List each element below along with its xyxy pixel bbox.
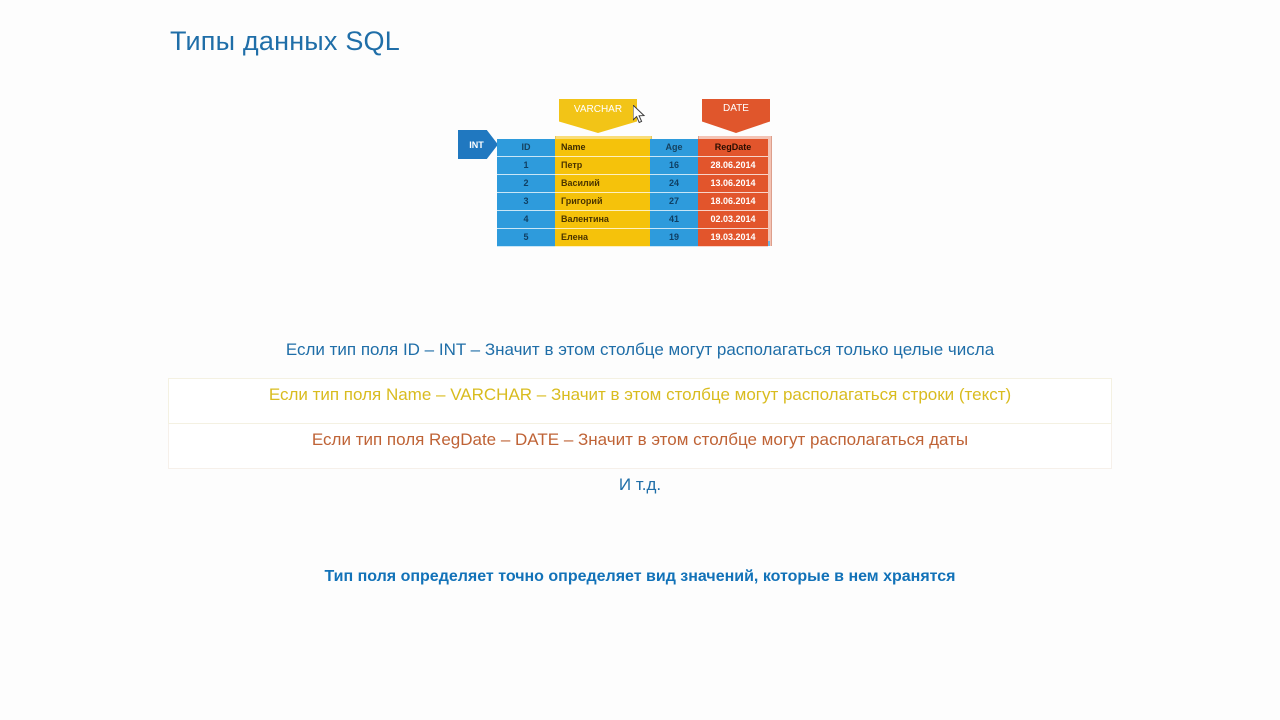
cell-name: Елена — [555, 229, 650, 247]
cell-regdate: 02.03.2014 — [698, 211, 768, 229]
explanation-varchar: Если тип поля Name – VARCHAR – Значит в … — [168, 378, 1112, 424]
cell-name: Василий — [555, 175, 650, 193]
cell-name: Петр — [555, 157, 650, 175]
cell-age: 19 — [650, 229, 698, 247]
column-header-age: Age — [650, 139, 698, 157]
cell-age: 16 — [650, 157, 698, 175]
table-row: 5 Елена 19 19.03.2014 — [497, 229, 768, 247]
table-row: 1 Петр 16 28.06.2014 — [497, 157, 768, 175]
column-header-name: Name — [555, 139, 650, 157]
type-tag-int: INT — [458, 130, 498, 159]
cell-id: 1 — [497, 157, 555, 175]
cell-regdate: 18.06.2014 — [698, 193, 768, 211]
cell-name: Валентина — [555, 211, 650, 229]
cell-regdate: 19.03.2014 — [698, 229, 768, 247]
cell-regdate: 28.06.2014 — [698, 157, 768, 175]
cell-id: 5 — [497, 229, 555, 247]
table-row: 2 Василий 24 13.06.2014 — [497, 175, 768, 193]
type-tag-date: DATE — [702, 99, 770, 133]
table-row: 4 Валентина 41 02.03.2014 — [497, 211, 768, 229]
page-title: Типы данных SQL — [170, 26, 400, 57]
explanation-date: Если тип поля RegDate – DATE – Значит в … — [168, 424, 1112, 469]
explanation-etc: И т.д. — [0, 469, 1280, 513]
sql-types-diagram: INT VARCHAR DATE ID Name Age RegDate 1 П… — [455, 96, 795, 256]
column-header-regdate: RegDate — [698, 139, 768, 157]
explanation-list: Если тип поля ID – INT – Значит в этом с… — [0, 334, 1280, 513]
type-tag-varchar: VARCHAR — [559, 99, 637, 133]
sql-example-table: ID Name Age RegDate 1 Петр 16 28.06.2014… — [497, 139, 768, 247]
cell-id: 2 — [497, 175, 555, 193]
cell-age: 41 — [650, 211, 698, 229]
column-header-id: ID — [497, 139, 555, 157]
cell-id: 3 — [497, 193, 555, 211]
arrow-cursor-icon — [633, 105, 647, 124]
cell-age: 27 — [650, 193, 698, 211]
conclusion-text: Тип поля определяет точно определяет вид… — [0, 568, 1280, 586]
table-header-row: ID Name Age RegDate — [497, 139, 768, 157]
cell-age: 24 — [650, 175, 698, 193]
explanation-int: Если тип поля ID – INT – Значит в этом с… — [0, 334, 1280, 378]
cell-id: 4 — [497, 211, 555, 229]
cell-regdate: 13.06.2014 — [698, 175, 768, 193]
cell-name: Григорий — [555, 193, 650, 211]
table-row: 3 Григорий 27 18.06.2014 — [497, 193, 768, 211]
